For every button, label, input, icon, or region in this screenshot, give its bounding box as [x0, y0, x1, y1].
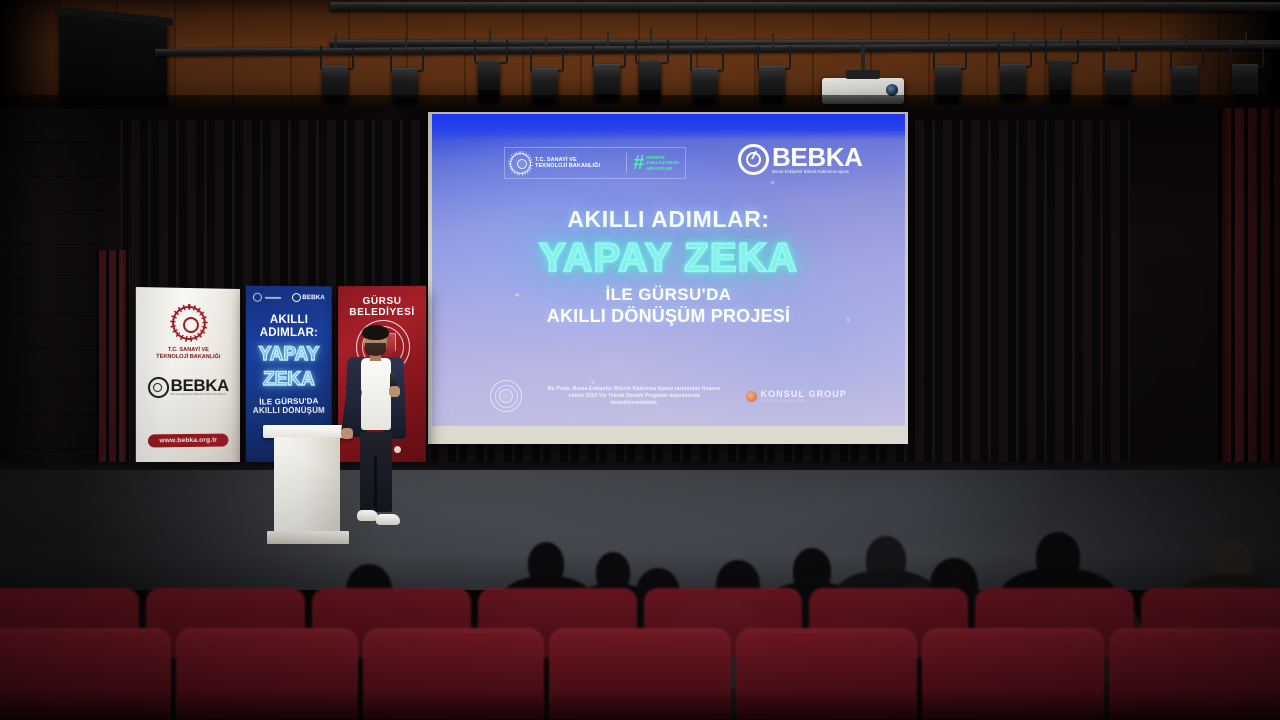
banner-blue-text-block: AKILLI ADIMLAR: YAPAY ZEKA İLE GÜRSU'DA …: [246, 314, 332, 415]
konsul-wordmark: KONSUL GROUP: [760, 390, 847, 399]
ministry-gear-seal-icon: [253, 293, 262, 302]
banner-blue-ministry-mark: [253, 293, 281, 302]
slide-headline-line3: İLE GÜRSU'DA: [432, 285, 905, 305]
projection-screen: T.C. SANAYİ VE TEKNOLOJİ BAKANLIĞI # HED…: [432, 114, 905, 426]
bebka-logo-slide: BEBKA Bursa Eskişehir Bilecik Kalkınma A…: [738, 144, 862, 175]
konsul-tagline: ADVISORY CONSULTING: [760, 399, 847, 403]
slide-top-color-band: [432, 114, 905, 140]
konsul-group-logo: KONSUL GROUP ADVISORY CONSULTING: [746, 390, 847, 403]
hashtag-text: HEDEFE YAKLAŞTIRAN HİKAYELER: [646, 155, 679, 171]
speaker-left-hand: [341, 428, 353, 439]
banner-blue-bebka-logo: BEBKA: [292, 293, 325, 302]
ministry-gear-seal-icon: [510, 153, 531, 174]
banner-ministry-line2: TEKNOLOJİ BAKANLIĞI: [156, 354, 220, 361]
audience-area: [0, 470, 1280, 720]
bebka-spiral-icon: [292, 293, 301, 302]
bebka-logo-textblock: BEBKA Bursa Eskişehir Bilecik Kalkınma A…: [772, 145, 862, 174]
lighting-truss-upper: [330, 2, 1280, 11]
speaker-right-hand: [389, 386, 400, 397]
banner-blue-bebka-wordmark: BEBKA: [302, 295, 325, 301]
banner-ministry-text: T.C. SANAYİ VE TEKNOLOJİ BAKANLIĞI: [156, 347, 220, 361]
banner-website-url: www.bebka.org.tr: [148, 434, 228, 448]
wooden-side-wall: [0, 108, 104, 520]
slide-footer-row: Bu Proje, Bursa Eskişehir Bilecik Kalkın…: [432, 380, 905, 412]
ministry-logo-group: T.C. SANAYİ VE TEKNOLOJİ BAKANLIĞI: [505, 153, 620, 174]
bebka-subtitle: Bursa Eskişehir Bilecik Kalkınma Ajansı: [772, 169, 862, 174]
slide-headline-neon: YAPAY ZEKA: [432, 236, 905, 281]
red-side-curtain-right: [1218, 108, 1280, 520]
speaker-beard: [365, 343, 386, 356]
bebka-spiral-icon: [147, 377, 168, 398]
hashtag-icon: #: [633, 154, 644, 172]
banner-blue-line1: AKILLI: [246, 314, 332, 327]
ministry-logo-line2: TEKNOLOJİ BAKANLIĞI: [535, 163, 600, 169]
hashtag-line2: YAKLAŞTIRAN: [646, 160, 679, 165]
banner-blue-line6: AKILLI DÖNÜŞÜM: [246, 406, 332, 415]
speaker-hair: [362, 325, 389, 340]
banner-bebka-subtitle: Bursa Eskişehir Bilecik Kalkınma Ajansı: [171, 393, 229, 397]
bottom-shadow: [0, 690, 1280, 720]
campaign-hashtag-logo: # HEDEFE YAKLAŞTIRAN HİKAYELER: [633, 154, 679, 172]
slide-finance-note: Bu Proje, Bursa Eskişehir Bilecik Kalkın…: [544, 386, 724, 407]
hashtag-line3: HİKAYELER: [646, 166, 679, 171]
banner-blue-line4: ZEKA: [246, 370, 332, 390]
rollup-banner-bebka: T.C. SANAYİ VE TEKNOLOJİ BAKANLIĞI BEBKA…: [136, 287, 240, 481]
slide-headline-line4: AKILLI DÖNÜŞÜM PROJESİ: [432, 306, 905, 327]
slide-headline-line1: AKILLI ADIMLAR:: [432, 206, 905, 233]
ministry-logo-text: T.C. SANAYİ VE TEKNOLOJİ BAKANLIĞI: [535, 157, 600, 170]
logo-bar-divider: [626, 153, 627, 173]
banner-red-title: GÜRSU BELEDİYESİ: [338, 296, 426, 318]
gursu-municipality-seal-icon: [490, 380, 522, 412]
ministry-name-placeholder: [265, 296, 281, 298]
banner-blue-logo-row: BEBKA: [246, 286, 332, 303]
banner-bebka-logo: BEBKA Bursa Eskişehir Bilecik Kalkınma A…: [147, 377, 228, 398]
projector-mount-plate: [846, 70, 880, 79]
conference-hall-photo: T.C. SANAYİ VE TEKNOLOJİ BAKANLIĞI # HED…: [0, 0, 1280, 720]
bebka-spiral-icon: [738, 144, 769, 175]
slide-headline-block: AKILLI ADIMLAR: YAPAY ZEKA İLE GÜRSU'DA …: [432, 206, 905, 327]
banner-bebka-textblock: BEBKA Bursa Eskişehir Bilecik Kalkınma A…: [171, 378, 229, 396]
bebka-wordmark: BEBKA: [772, 145, 862, 169]
slide-logo-bar: T.C. SANAYİ VE TEKNOLOJİ BAKANLIĞI # HED…: [504, 147, 686, 179]
ministry-seal-icon: [172, 306, 206, 340]
konsul-mark-icon: [746, 391, 757, 402]
banner-blue-line2: ADIMLAR:: [246, 327, 332, 340]
banner-blue-line3: YAPAY: [246, 345, 332, 365]
banner-bebka-wordmark: BEBKA: [171, 378, 229, 393]
speaker-shirt: [361, 358, 391, 430]
konsul-textblock: KONSUL GROUP ADVISORY CONSULTING: [760, 390, 847, 403]
